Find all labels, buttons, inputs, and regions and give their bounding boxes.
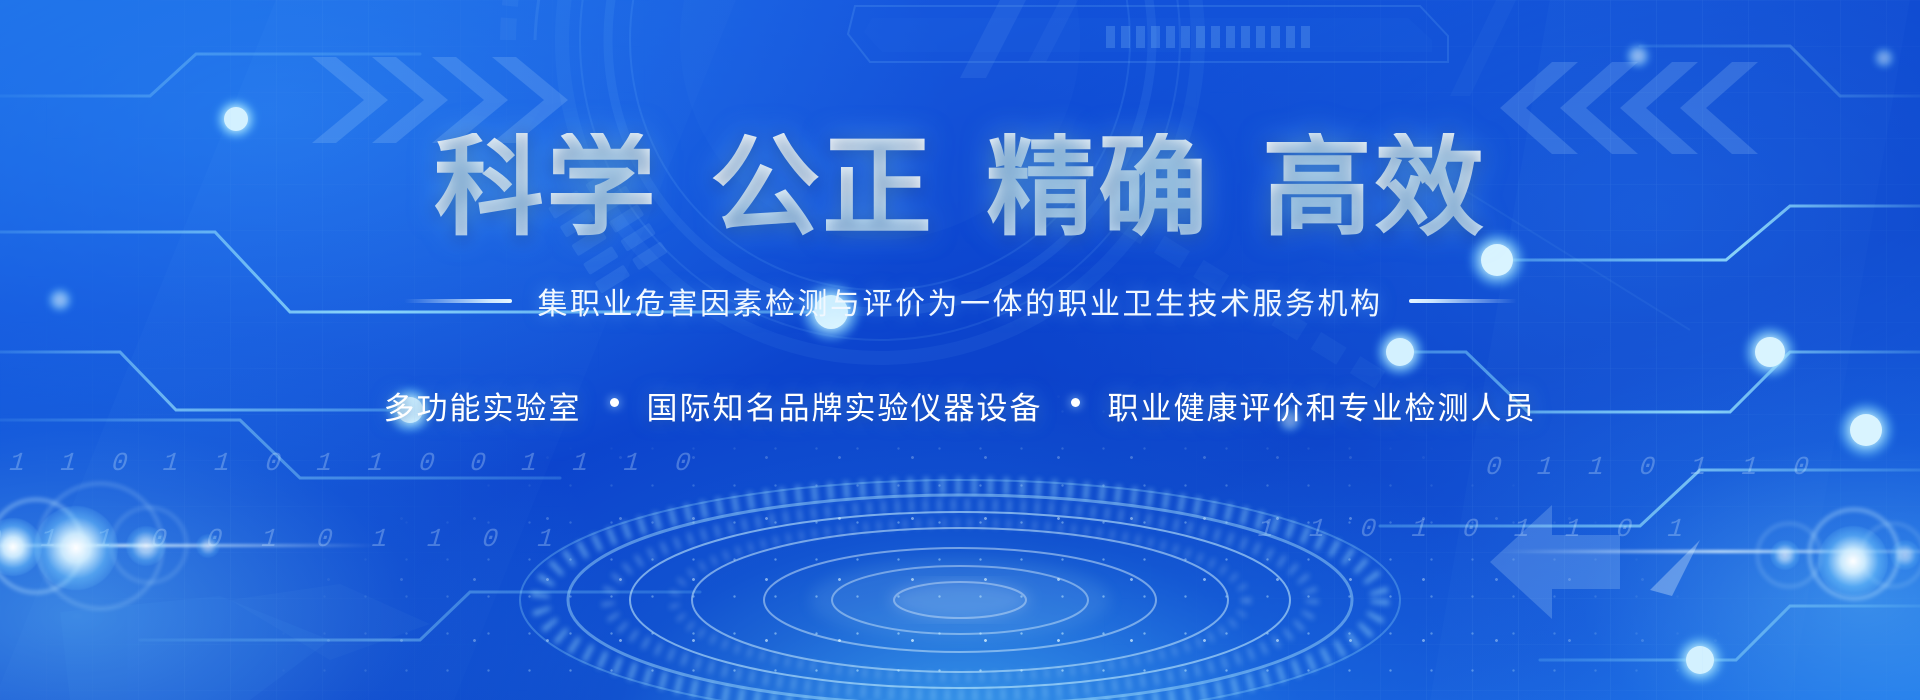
bullet-dot-icon: [610, 398, 619, 407]
headline-word-1: 科学: [430, 133, 662, 243]
headline-word-4: 高效: [1258, 133, 1490, 243]
headline-word-3: 精确: [982, 133, 1214, 243]
subtitle: 集职业危害因素检测与评价为一体的职业卫生技术服务机构: [538, 279, 1383, 323]
bullet-dot-icon: [1071, 398, 1080, 407]
divider-line-left: [404, 299, 512, 303]
divider-line-right: [1409, 299, 1517, 303]
tagline-item-1: 多功能实验室: [384, 383, 582, 428]
headline: 科学 公正 精确 高效: [430, 133, 1490, 243]
tagline-item-2: 国际知名品牌实验仪器设备: [647, 383, 1043, 428]
tagline-item-3: 职业健康评价和专业检测人员: [1108, 383, 1537, 428]
tagline-row: 多功能实验室 国际知名品牌实验仪器设备 职业健康评价和专业检测人员: [384, 383, 1537, 428]
banner-content: 科学 公正 精确 高效 集职业危害因素检测与评价为一体的职业卫生技术服务机构 多…: [0, 0, 1920, 700]
headline-word-2: 公正: [706, 133, 938, 243]
hero-banner: 1 0 1 1 0 1 1 0 1 1 0 0 1 1 1 0 1 0 0 1 …: [0, 0, 1920, 700]
subtitle-row: 集职业危害因素检测与评价为一体的职业卫生技术服务机构: [404, 279, 1517, 323]
